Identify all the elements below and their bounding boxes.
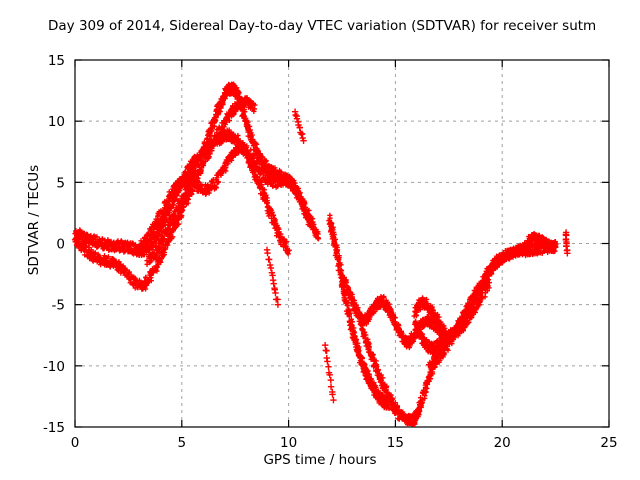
x-tick-label: 15 (387, 435, 404, 451)
y-tick-label: 10 (48, 114, 65, 130)
data-arc (264, 247, 281, 308)
y-tick-label: 0 (56, 237, 65, 253)
y-axis-label: SDTVAR / TECUs (26, 140, 42, 300)
y-tick-label: 15 (48, 53, 65, 69)
data-arc (292, 108, 307, 143)
x-tick-label: 20 (494, 435, 511, 451)
chart-figure: Day 309 of 2014, Sidereal Day-to-day VTE… (0, 0, 640, 480)
data-arc (563, 229, 571, 256)
data-arc (72, 95, 258, 292)
x-tick-label: 25 (600, 435, 617, 451)
x-tick-label: 10 (280, 435, 297, 451)
data-series-sdtvar (72, 82, 571, 428)
x-axis-label: GPS time / hours (0, 452, 640, 468)
x-tick-label: 5 (178, 435, 187, 451)
y-tick-label: -15 (43, 420, 65, 436)
data-arc (426, 239, 559, 375)
x-tick-label: 0 (71, 435, 80, 451)
data-arc (322, 342, 337, 403)
plot-canvas: -15-10-50510150510152025 (0, 0, 640, 480)
y-tick-label: 5 (56, 175, 65, 191)
data-arc (341, 275, 479, 350)
y-tick-label: -10 (43, 359, 65, 375)
y-tick-label: -5 (52, 298, 65, 314)
data-arc (72, 127, 291, 258)
